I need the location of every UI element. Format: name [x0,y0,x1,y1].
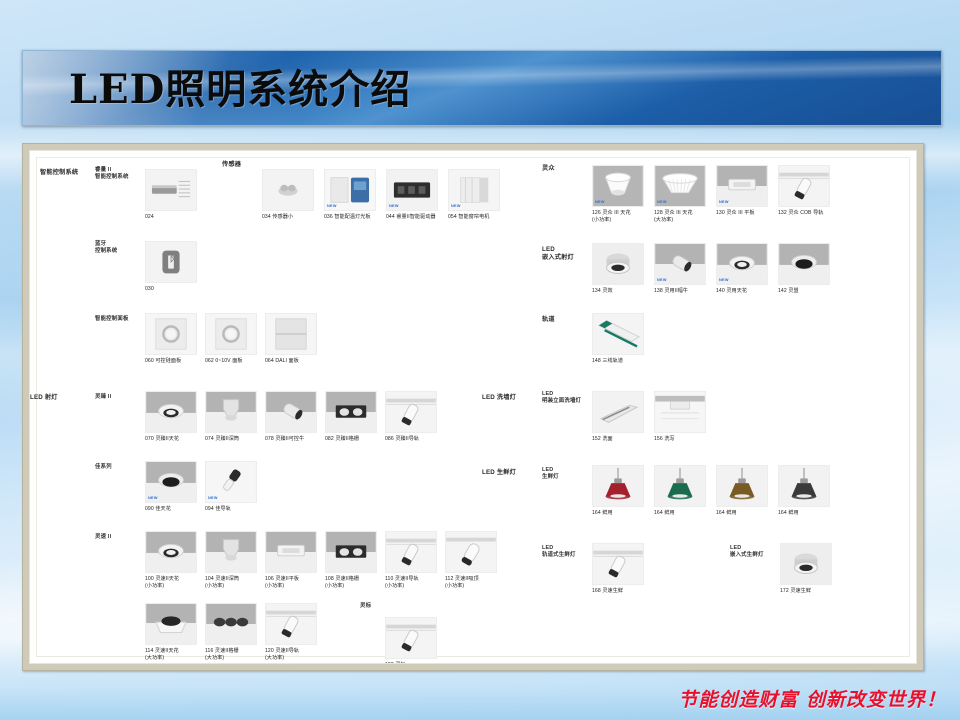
product-thumbnail [265,531,317,573]
grille-double-icon [326,392,376,432]
new-badge: NEW [719,200,729,204]
product-thumbnail: NEW [205,461,257,503]
surface-spot-icon [446,532,496,572]
product-tile[interactable]: 108 灵速II格栅 (小功率) [325,531,383,590]
product-caption: 172 灵速生鲜 [780,588,840,595]
product-thumbnail [205,603,257,645]
product-thumbnail [778,165,830,207]
product-caption: 156 洗写 [654,436,714,443]
product-thumbnail: NEW [324,169,376,211]
product-tile[interactable]: 172 灵速生鲜 [780,543,840,595]
product-thumbnail [654,465,706,507]
product-caption: 130 灵众 III 平板 [716,210,776,217]
product-tile[interactable]: 110 灵速II导轨 (小功率) [385,531,443,590]
product-tile[interactable]: NEW138 灵用II幅牛 [654,243,714,295]
product-thumbnail [445,531,497,573]
pendant-icon [779,466,829,506]
product-tile[interactable]: NEW126 灵众 III 天花 (小功率) [592,165,652,224]
product-tile[interactable]: NEW036 智能配温灯光板 [324,169,384,221]
product-tile[interactable]: 168 灵速生鲜 [592,543,652,595]
product-thumbnail [145,391,197,433]
product-caption: 164 鲜用 [654,510,714,517]
product-tile[interactable]: 074 灵臻II深筒 [205,391,263,443]
group-label-track-fresh: LED 轨道式生鲜灯 [542,545,576,559]
module-ring-icon [593,244,643,284]
new-badge: NEW [148,496,158,500]
controller-module-icon [146,170,196,210]
product-thumbnail [592,543,644,585]
new-badge: NEW [719,278,729,282]
product-tile[interactable]: 164 鲜用 [654,465,714,517]
grille-triple-icon [206,604,256,644]
product-thumbnail [385,617,437,659]
product-thumbnail [325,531,377,573]
product-thumbnail: NEW [386,169,438,211]
new-badge: NEW [657,200,667,204]
bluetooth-module-icon [146,242,196,282]
product-caption: 030 [145,286,211,293]
new-badge: NEW [389,204,399,208]
wall-washer-recess-icon [655,392,705,432]
product-caption: 090 佳天花 [145,506,203,513]
product-caption: 122 灵标 [385,662,443,664]
product-tile[interactable]: 078 灵臻II可控牛 [265,391,323,443]
product-caption: 120 灵速II导轨 (大功率) [265,648,323,662]
product-tile[interactable]: NEW044 睿量II智能驱动器 [386,169,446,221]
catalog-left-column: 智能控制系统睿量 II 智能控制系统024蓝牙 控制系统030智能控制面板060… [30,151,530,663]
pendant-icon [717,466,767,506]
product-caption: 070 灵臻II天花 [145,436,203,443]
product-caption: 094 佳导轨 [205,506,263,513]
product-tile[interactable]: 164 鲜用 [778,465,838,517]
product-caption: 134 灵效 [592,288,652,295]
product-thumbnail [205,531,257,573]
footer-slogan: 节能创造财富 创新改变世界！ [678,685,946,712]
product-tile[interactable]: 100 灵速II天花 (小功率) [145,531,203,590]
product-thumbnail [145,313,197,355]
section-label-led-spotlight: LED 射灯 [30,394,58,402]
product-tile[interactable]: 060 可控硅面板 [145,313,203,365]
product-caption: 164 鲜用 [778,510,838,517]
panel-dial-icon [146,314,196,354]
product-thumbnail [592,465,644,507]
product-caption: 152 洗面 [592,436,652,443]
spot-angled-icon [266,392,316,432]
page-title: LED照明系统介绍 [69,57,411,115]
module-ring-icon [781,544,831,584]
product-tile[interactable]: 070 灵臻II天花 [145,391,203,443]
product-caption: 062 0~10V 面板 [205,358,263,365]
product-tile[interactable]: 030 [145,241,211,293]
product-caption: 164 鲜用 [592,510,652,517]
product-tile[interactable]: NEW130 灵众 III 平板 [716,165,776,217]
product-caption: 110 灵速II导轨 (小功率) [385,576,443,590]
product-thumbnail [145,603,197,645]
pendant-icon [593,466,643,506]
product-thumbnail [205,391,257,433]
product-tile[interactable]: NEW090 佳天花 [145,461,203,513]
panel-dial-icon [206,314,256,354]
product-caption: 034 传感器小 [262,214,322,221]
downlight-round-icon [146,392,196,432]
product-caption: 116 灵速II格栅 (大功率) [205,648,263,662]
product-caption: 138 灵用II幅牛 [654,288,714,295]
product-caption: 100 灵速II天花 (小功率) [145,576,203,590]
group-label-surface-wall-washer: LED 明装立面洗墙灯 [542,391,581,405]
product-tile[interactable]: 106 灵速II平板 (小功率) [265,531,323,590]
catalog-right-column: 灵众NEW126 灵众 III 天花 (小功率)NEW128 灵众 III 天花… [530,151,917,663]
product-thumbnail [385,531,437,573]
deep-downlight-icon [206,392,256,432]
product-tile[interactable]: 134 灵效 [592,243,652,295]
group-label-lingzhen: 灵臻 II [95,394,111,401]
deep-downlight-icon [206,532,256,572]
track-spot-icon [386,532,436,572]
group-label-jia-series: 佳系列 [95,464,112,471]
product-caption: 044 睿量II智能驱动器 [386,214,446,221]
product-thumbnail [592,313,644,355]
product-thumbnail [205,313,257,355]
product-tile[interactable]: 132 灵众 COB 导轨 [778,165,838,217]
section-label-smart-control: 智能控制系统 [40,169,78,177]
product-thumbnail: NEW [145,461,197,503]
product-thumbnail [654,391,706,433]
product-tile[interactable]: 112 灵速II吸顶 (小功率) [445,531,503,590]
sensor-small-icon [263,170,313,210]
product-thumbnail [325,391,377,433]
product-thumbnail [145,531,197,573]
product-thumbnail: NEW [716,165,768,207]
product-tile[interactable]: 062 0~10V 面板 [205,313,263,365]
product-caption: 064 DALI 面板 [265,358,323,365]
product-caption: 140 灵用天花 [716,288,776,295]
new-badge: NEW [327,204,337,208]
product-thumbnail [145,169,197,211]
product-thumbnail [265,391,317,433]
new-badge: NEW [208,496,218,500]
catalog-frame: 智能控制系统睿量 II 智能控制系统024蓝牙 控制系统030智能控制面板060… [22,143,924,671]
product-caption: 132 灵众 COB 导轨 [778,210,838,217]
product-caption: 054 智能窗帘电机 [448,214,508,221]
group-label-recessed-fresh: LED 嵌入式生鲜灯 [730,545,764,559]
product-tile[interactable]: NEW140 灵用天花 [716,243,776,295]
track-spot-icon [266,604,316,644]
flat-panel-icon [266,532,316,572]
product-tile[interactable]: 086 灵臻II导轨 [385,391,443,443]
downlight-black-icon [779,244,829,284]
product-caption: 104 灵速II深筒 (小功率) [205,576,263,590]
section-label-recessed-spot: LED 嵌入式射灯 [542,246,574,263]
section-label-fresh-light: LED 生鲜灯 [482,469,516,477]
wall-washer-icon [593,392,643,432]
product-thumbnail [592,243,644,285]
product-tile[interactable]: 164 鲜用 [592,465,652,517]
new-badge: NEW [451,204,461,208]
product-tile[interactable]: 082 灵臻II格栅 [325,391,383,443]
product-tile[interactable]: 156 洗写 [654,391,714,443]
group-label-bluetooth: 蓝牙 控制系统 [95,241,117,255]
product-tile[interactable]: NEW054 智能窗帘电机 [448,169,508,221]
product-thumbnail [778,243,830,285]
product-tile[interactable]: 116 灵速II格栅 (大功率) [205,603,263,662]
pendant-icon [655,466,705,506]
product-thumbnail [265,603,317,645]
downlight-round-icon [146,532,196,572]
section-label-wall-washer: LED 洗墙灯 [482,394,516,402]
grille-double-icon [326,532,376,572]
product-caption: 074 灵臻II深筒 [205,436,263,443]
product-tile[interactable]: 148 三线轨道 [592,313,654,365]
product-tile[interactable]: 104 灵速II深筒 (小功率) [205,531,263,590]
product-caption: 164 鲜用 [716,510,776,517]
product-thumbnail [780,543,832,585]
new-badge: NEW [657,278,667,282]
group-label-lingbiao: 灵标 [360,603,371,610]
product-caption: 128 灵众 III 天花 (大功率) [654,210,714,224]
group-label-control-panel: 智能控制面板 [95,316,129,323]
product-thumbnail [385,391,437,433]
track-spot-icon [386,392,436,432]
catalog-sheet: 智能控制系统睿量 II 智能控制系统024蓝牙 控制系统030智能控制面板060… [29,150,917,664]
track-spot-icon [779,166,829,206]
section-label-sensor: 传感器 [222,161,241,169]
group-label-lingsu: 灵速 II [95,534,111,541]
product-caption: 112 灵速II吸顶 (小功率) [445,576,503,590]
product-thumbnail [145,241,197,283]
product-thumbnail: NEW [654,165,706,207]
track-rail-icon [593,314,643,354]
group-label-fresh: LED 生鲜灯 [542,467,559,481]
product-tile[interactable]: 122 灵标 [385,617,443,664]
product-tile[interactable]: NEW094 佳导轨 [205,461,263,513]
product-caption: 142 灵盟 [778,288,838,295]
track-spot-icon [593,544,643,584]
product-caption: 082 灵臻II格栅 [325,436,383,443]
product-caption: 060 可控硅面板 [145,358,203,365]
downlight-wide-icon [146,604,196,644]
product-thumbnail [716,465,768,507]
product-caption: 078 灵臻II可控牛 [265,436,323,443]
product-caption: 148 三线轨道 [592,358,654,365]
product-tile[interactable]: NEW128 灵众 III 天花 (大功率) [654,165,714,224]
product-tile[interactable]: 064 DALI 面板 [265,313,323,365]
title-banner: LED照明系统介绍 [22,50,942,126]
new-badge: NEW [595,200,605,204]
product-tile[interactable]: 142 灵盟 [778,243,838,295]
panel-flat-icon [266,314,316,354]
product-caption: 108 灵速II格栅 (小功率) [325,576,383,590]
product-thumbnail [778,465,830,507]
product-tile[interactable]: 034 传感器小 [262,169,322,221]
product-caption: 114 灵速II天花 (大功率) [145,648,203,662]
product-thumbnail: NEW [448,169,500,211]
product-tile[interactable]: 164 鲜用 [716,465,776,517]
product-caption: 106 灵速II平板 (小功率) [265,576,323,590]
product-caption: 036 智能配温灯光板 [324,214,384,221]
section-label-lingzhong: 灵众 [542,165,555,173]
product-caption: 126 灵众 III 天花 (小功率) [592,210,652,224]
product-thumbnail [262,169,314,211]
product-thumbnail: NEW [592,165,644,207]
product-tile[interactable]: 024 [145,169,211,221]
product-caption: 086 灵臻II导轨 [385,436,443,443]
product-caption: 024 [145,214,211,221]
product-thumbnail: NEW [716,243,768,285]
product-thumbnail: NEW [654,243,706,285]
product-thumbnail [265,313,317,355]
track-spot-icon [386,618,436,658]
product-thumbnail [592,391,644,433]
group-label-ruiliang: 睿量 II 智能控制系统 [95,167,129,181]
section-label-track: 轨道 [542,316,555,324]
product-tile[interactable]: 120 灵速II导轨 (大功率) [265,603,323,662]
product-tile[interactable]: 114 灵速II天花 (大功率) [145,603,203,662]
product-tile[interactable]: 152 洗面 [592,391,652,443]
product-caption: 168 灵速生鲜 [592,588,652,595]
